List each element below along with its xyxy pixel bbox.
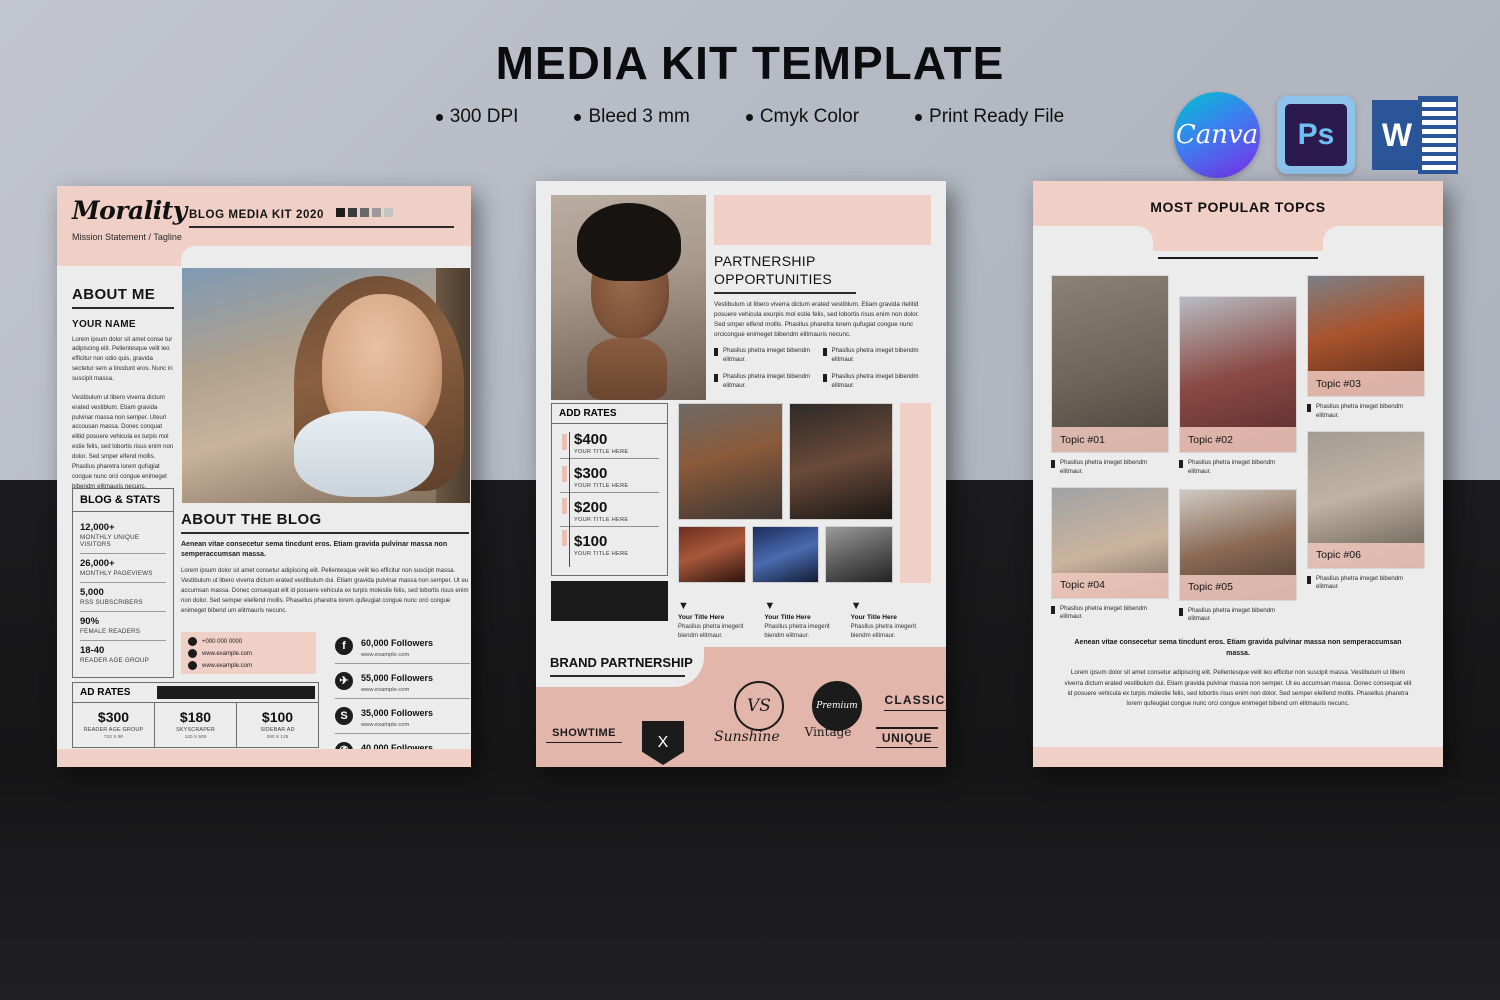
divider [72,307,174,309]
ad-rate-cell: $300 READER AGE GROUP 720 X 90 [73,703,155,747]
vintage-studio-logo: Vintage [800,725,856,739]
add-rate-row: $200 YOUR TITLE HERE [560,499,659,527]
social-count: 55,000 Followers [361,673,433,683]
topic-label: Topic #05 [1188,581,1233,593]
header-notch-left [1033,226,1153,251]
add-rates-heading: ADD RATES [552,404,667,424]
premium-badge-glyph: Premium [812,681,862,731]
flyer3-title: MOST POPULAR TOPCS [1033,199,1443,215]
topic-label: Topic #01 [1060,434,1105,446]
topic-ribbon: Topic #01 [1052,427,1168,452]
ad-rate-name: READER AGE GROUP [75,727,152,733]
unique-logo: UNIQUE [876,727,938,748]
photo-cell [752,526,820,583]
word-glyph: W [1372,100,1422,170]
about-blog-heading: ABOUT THE BLOG [181,511,469,528]
ad-rate-dimensions: 120 X 600 [157,735,234,740]
ad-rates-heading: AD RATES [73,683,157,702]
bullet-icon [436,114,443,121]
square-bullet-icon [1051,460,1055,468]
social-text: 60,000 Followers www.example.com [361,633,433,658]
topic-desc-row: Phasllus phetra imeget bibendm elitmaur. [1179,459,1297,477]
sunshine-wordmark: Sunshine [714,729,778,745]
topic-desc: Phasllus phetra imeget bibendm elitmaur. [1060,605,1169,623]
pink-tick [562,434,567,450]
bullet-item: Phasllus phetra imeget bibendm elitmaur. [823,373,932,391]
ad-rates-dark-bar [157,686,315,699]
swatch [372,208,381,217]
flyer-page-3[interactable]: MOST POPULAR TOPCS Topic #01 Phasllus ph… [1033,181,1443,767]
stat-label: FEMALE READERS [80,628,166,635]
footer-lead: Aenean vitae consecetur sema tincdunt er… [1063,637,1413,659]
down-arrow-icon: ▼ [851,601,931,612]
pink-banner [714,195,931,245]
add-rate-row: $300 YOUR TITLE HERE [560,465,659,493]
stat-row: 5,000 RSS SUBSCRIBERS [80,583,166,612]
pink-sidebar [900,403,931,583]
social-text: 35,000 Followers www.example.com [361,703,433,728]
ad-rates-table: AD RATES $300 READER AGE GROUP 720 X 90 … [72,682,319,748]
stat-value: 26,000+ [80,558,166,569]
topic-label: Topic #02 [1188,434,1233,446]
about-me-paragraph-2: Vestibulum ut libero viverra dictum erat… [72,393,174,492]
pink-tick [562,498,567,514]
caption-desc: Phasllus phetra imegerit biendm elitmaur… [678,623,758,641]
bullet-text: Phasllus phetra imeget bibendm elitmaur. [832,347,926,365]
square-bullet-icon [1051,606,1055,614]
caption-title: Your Title Here [678,614,758,621]
divider [189,226,454,228]
topic-desc: Phasllus phetra imeget bibendm elitmaur. [1060,459,1169,477]
add-rate-row: $400 YOUR TITLE HERE [560,431,659,459]
photo-cell [825,526,893,583]
social-count: 35,000 Followers [361,708,433,718]
brand-name: Morality [72,196,182,225]
contact-row[interactable]: +000 000 0000 [188,637,309,646]
stat-row: 90% FEMALE READERS [80,612,166,641]
partnership-heading: PARTNERSHIP OPPORTUNITIES [714,253,931,288]
swatch [360,208,369,217]
topic-card[interactable]: Topic #03 [1307,275,1425,397]
vintage-wordmark: Vintage [800,725,856,739]
social-text: 55,000 Followers www.example.com [361,668,433,693]
square-bullet-icon [823,374,827,382]
topics-column: Topic #03 Phasllus phetra imeget bibendm… [1307,275,1425,624]
partnership-body: Vestibulum ut libero viverra dictum erat… [714,300,931,340]
bullet-item: Phasllus phetra imeget bibendm elitmaur. [714,347,823,365]
photo-cell [678,403,783,520]
brand-logo: Morality Mission Statement / Tagline [72,196,182,242]
partnership-heading-line1: PARTNERSHIP [714,253,816,269]
ad-rate-price: $300 [75,709,152,725]
about-me-paragraph-1: Lorem ipsum dolor sit amet conse tur adi… [72,335,174,384]
word-app-icon: W [1372,96,1458,174]
swatch [348,208,357,217]
brand-logo-grid: VS Premium CLASSIC SHOWTIME X Sunshine V… [536,679,946,765]
square-bullet-icon [714,348,718,356]
divider [1158,257,1318,259]
pink-tick [562,466,567,482]
ad-rate-dimensions: 720 X 90 [75,735,152,740]
premium-badge-logo: Premium [812,681,866,731]
divider [714,292,856,294]
bullet-item: Phasllus phetra imeget bibendm elitmaur. [714,373,823,391]
flyer-page-1[interactable]: Morality Mission Statement / Tagline BLO… [57,186,471,767]
vertical-rule [569,432,570,567]
photo-grid-bottom-row [678,526,893,583]
add-rates-box: ADD RATES $400 YOUR TITLE HERE $300 YOUR… [551,403,668,576]
divider [181,532,469,534]
photo-cell [789,403,894,520]
ad-rate-name: SIDEBAR AD [239,727,316,733]
contact-row[interactable]: www.example.com [188,661,309,670]
stat-row: 12,000+ MONTHLY UNIQUE VISITORS [80,518,166,554]
photoshop-glyph: Ps [1285,104,1347,166]
topic-ribbon: Topic #06 [1308,543,1424,568]
hero-portrait-photo [182,268,470,503]
contact-text: www.example.com [202,663,252,669]
add-rate-price: $100 [574,533,659,550]
partnership-opportunities-section: PARTNERSHIP OPPORTUNITIES Vestibulum ut … [714,253,931,400]
topic-desc-row: Phasllus phetra imeget bibendm elitmaur. [1051,605,1169,623]
page-title: MEDIA KIT TEMPLATE [0,36,1500,90]
media-kit-label-row: BLOG MEDIA KIT 2020 [189,208,454,228]
feature-item: Cmyk Color [746,106,859,128]
partnership-heading-line2: OPPORTUNITIES [714,271,832,287]
facebook-icon: f [335,637,353,655]
bullet-text: Phasllus phetra imeget bibendm elitmaur. [832,373,926,391]
vs-monogram-glyph: VS [734,681,784,731]
social-url: www.example.com [361,722,433,728]
topic-desc: Phasllus phetra imeget bibendm elitmaur. [1188,607,1297,625]
topic-label: Topic #03 [1316,378,1361,390]
social-followers-list: f 60,000 Followers www.example.com ✈ 55,… [335,629,470,768]
topics-column: Topic #02 Phasllus phetra imeget bibendm… [1179,275,1297,624]
flyer1-pink-footer [57,749,471,767]
topic-card[interactable]: Topic #02 [1179,296,1297,453]
hair-shape [577,203,681,281]
contact-text: +000 000 0000 [202,639,242,645]
contact-text: www.example.com [202,651,252,657]
caption-block: ▼ Your Title Here Phasllus phetra imeger… [851,601,931,641]
vs-monogram-logo: VS [734,681,786,731]
bullet-icon [746,114,753,121]
topic-ribbon: Topic #04 [1052,573,1168,598]
topic-desc-row: Phasllus phetra imeget bibendm elitmaur. [1307,403,1425,421]
twitter-icon: ✈ [335,672,353,690]
stat-label: RSS SUBSCRIBERS [80,599,166,606]
unique-wordmark: UNIQUE [876,731,938,745]
canva-app-icon: Canva [1174,92,1260,178]
brand-partnership-heading: BRAND PARTNERSHIP [550,655,693,670]
topic-card[interactable]: Topic #06 [1307,431,1425,569]
brand-partnership-section: BRAND PARTNERSHIP VS Premium CLASSIC SHO… [536,647,946,767]
swatch-strip [336,208,393,217]
ad-rate-name: SKYSCRAPER [157,727,234,733]
stat-value: 12,000+ [80,522,166,533]
add-rate-price: $400 [574,431,659,448]
caption-block: ▼ Your Title Here Phasllus phetra imeger… [764,601,844,641]
photo-cell [678,526,746,583]
down-arrow-icon: ▼ [678,601,758,612]
topic-ribbon: Topic #03 [1308,371,1424,396]
classic-design-studio-logo: CLASSIC [884,693,946,711]
caption-desc: Phasllus phetra imegerit biendm elitmaur… [851,623,931,641]
classic-wordmark: CLASSIC [884,693,946,707]
social-url: www.example.com [361,687,433,693]
social-row[interactable]: f 60,000 Followers www.example.com [335,629,470,664]
social-row[interactable]: S 35,000 Followers www.example.com [335,699,470,734]
ad-rate-dimensions: 260 X 125 [239,735,316,740]
feature-label: Cmyk Color [760,106,859,128]
add-rate-title: YOUR TITLE HERE [574,483,659,489]
swatch [384,208,393,217]
topic-desc: Phasllus phetra imeget bibendm elitmaur. [1316,403,1425,421]
topic-desc-row: Phasllus phetra imeget bibendm elitmaur. [1051,459,1169,477]
square-bullet-icon [714,374,718,382]
topic-desc: Phasllus phetra imeget bibendm elitmaur. [1188,459,1297,477]
bullet-icon [915,114,922,121]
down-arrow-icon: ▼ [764,601,844,612]
ad-rate-price: $100 [239,709,316,725]
photo-grid-2 [678,403,893,583]
footer-body: Lorem ipsum dolor sit amet consetur adip… [1063,668,1413,709]
caption-title: Your Title Here [851,614,931,621]
topic-ribbon: Topic #02 [1180,427,1296,452]
topic-label: Topic #06 [1316,549,1361,561]
app-compatibility-icons: Canva Ps W [1174,92,1458,178]
topic-ribbon: Topic #05 [1180,575,1296,600]
portrait-photo-2 [551,195,706,400]
bullet-text: Phasllus phetra imeget bibendm elitmaur. [723,373,817,391]
flyer1-header-notch [181,246,471,266]
blog-stats-box: BLOG & STATS 12,000+ MONTHLY UNIQUE VISI… [72,488,174,678]
topic-desc-row: Phasllus phetra imeget bibendm elitmaur. [1307,575,1425,593]
flyer3-footer-text: Aenean vitae consecetur sema tincdunt er… [1063,637,1413,709]
showtime-logo: SHOWTIME [546,727,622,743]
hello-sunshine-logo: Sunshine [714,729,778,745]
about-blog-body: Lorem ipsum dolor sit amet consetur adip… [181,566,469,615]
stat-value: 5,000 [80,587,166,598]
topic-card[interactable]: Topic #05 [1179,489,1297,601]
about-blog-section: ABOUT THE BLOG Aenean vitae consecetur s… [181,511,469,615]
photo-captions: ▼ Your Title Here Phasllus phetra imeger… [678,601,931,641]
word-page-lines [1418,96,1458,174]
topic-desc-row: Phasllus phetra imeget bibendm elitmaur. [1179,607,1297,625]
topic-desc: Phasllus phetra imeget bibendm elitmaur. [1316,575,1425,593]
pink-tick [562,530,567,546]
stat-value: 18-40 [80,645,166,656]
caption-desc: Phasllus phetra imegerit biendm elitmaur… [764,623,844,641]
bullet-icon [574,114,581,121]
add-rate-price: $300 [574,465,659,482]
partnership-bullet-list: Phasllus phetra imeget bibendm elitmaur.… [714,347,931,400]
ad-rates-header-row: AD RATES [73,683,318,703]
scarf-shape [294,411,434,497]
feature-item: Bleed 3 mm [574,106,689,128]
stat-label: MONTHLY PAGEVIEWS [80,570,166,577]
add-rates-body: $400 YOUR TITLE HERE $300 YOUR TITLE HER… [552,424,667,575]
swatch [336,208,345,217]
ad-rate-cell: $100 SIDEBAR AD 260 X 125 [237,703,318,747]
about-blog-lead: Aenean vitae consecetur sema tincdunt er… [181,540,469,562]
about-me-heading: ABOUT ME [72,286,174,303]
blog-stats-heading: BLOG & STATS [73,489,173,512]
social-count: 60,000 Followers [361,638,433,648]
stat-row: 18-40 READER AGE GROUP [80,641,166,669]
feature-label: Print Ready File [929,106,1064,128]
add-rate-title: YOUR TITLE HERE [574,517,659,523]
stat-value: 90% [80,616,166,627]
dark-placeholder-block [551,581,668,621]
blog-stats-body: 12,000+ MONTHLY UNIQUE VISITORS 26,000+ … [73,512,173,677]
ad-rate-cell: $180 SKYSCRAPER 120 X 600 [155,703,237,747]
globe-icon [188,649,197,658]
caption-title: Your Title Here [764,614,844,621]
contact-row[interactable]: www.example.com [188,649,309,658]
phone-icon [188,637,197,646]
skype-icon: S [335,707,353,725]
square-bullet-icon [1179,608,1183,616]
add-rate-title: YOUR TITLE HERE [574,551,659,557]
topic-label: Topic #04 [1060,579,1105,591]
bullet-item: Phasllus phetra imeget bibendm elitmaur. [823,347,932,365]
add-rate-title: YOUR TITLE HERE [574,449,659,455]
shield-icon: X [642,721,684,765]
square-bullet-icon [1179,460,1183,468]
crossed-tools-shield-logo: X [642,721,686,765]
flyer-page-2[interactable]: PARTNERSHIP OPPORTUNITIES Vestibulum ut … [536,181,946,767]
feature-label: Bleed 3 mm [588,106,689,128]
feature-label: 300 DPI [450,106,519,128]
social-row[interactable]: ✈ 55,000 Followers www.example.com [335,664,470,699]
topic-card[interactable]: Topic #01 [1051,275,1169,453]
bullet-text: Phasllus phetra imeget bibendm elitmaur. [723,347,817,365]
photoshop-app-icon: Ps [1277,96,1355,174]
ad-rate-price: $180 [157,709,234,725]
divider [550,675,685,677]
topic-photo [1052,276,1168,452]
contact-block: +000 000 0000 www.example.com www.exampl… [181,632,316,674]
stat-label: MONTHLY UNIQUE VISITORS [80,534,166,548]
square-bullet-icon [1307,576,1311,584]
mail-icon [188,661,197,670]
flyer3-pink-footer [1033,747,1443,767]
feature-item: Print Ready File [915,106,1064,128]
add-rate-row: $100 YOUR TITLE HERE [560,533,659,560]
showtime-wordmark: SHOWTIME [546,727,622,739]
header-notch-right [1323,226,1443,251]
stat-label: READER AGE GROUP [80,657,166,664]
topic-card[interactable]: Topic #04 [1051,487,1169,599]
topics-grid: Topic #01 Phasllus phetra imeget bibendm… [1051,275,1425,624]
square-bullet-icon [1307,404,1311,412]
square-bullet-icon [823,348,827,356]
your-name-label: YOUR NAME [72,319,174,330]
media-kit-label-wrap: BLOG MEDIA KIT 2020 [189,208,454,221]
add-rate-price: $200 [574,499,659,516]
feature-item: 300 DPI [436,106,519,128]
hand-shape [587,338,667,400]
photo-grid-top-row [678,403,893,520]
topics-column: Topic #01 Phasllus phetra imeget bibendm… [1051,275,1169,624]
caption-block: ▼ Your Title Here Phasllus phetra imeger… [678,601,758,641]
media-kit-label: BLOG MEDIA KIT 2020 [189,209,324,221]
about-me-section: ABOUT ME YOUR NAME Lorem ipsum dolor sit… [72,286,174,491]
social-url: www.example.com [361,652,433,658]
ad-rates-cells: $300 READER AGE GROUP 720 X 90 $180 SKYS… [73,703,318,747]
stat-row: 26,000+ MONTHLY PAGEVIEWS [80,554,166,583]
brand-tagline: Mission Statement / Tagline [72,232,182,242]
